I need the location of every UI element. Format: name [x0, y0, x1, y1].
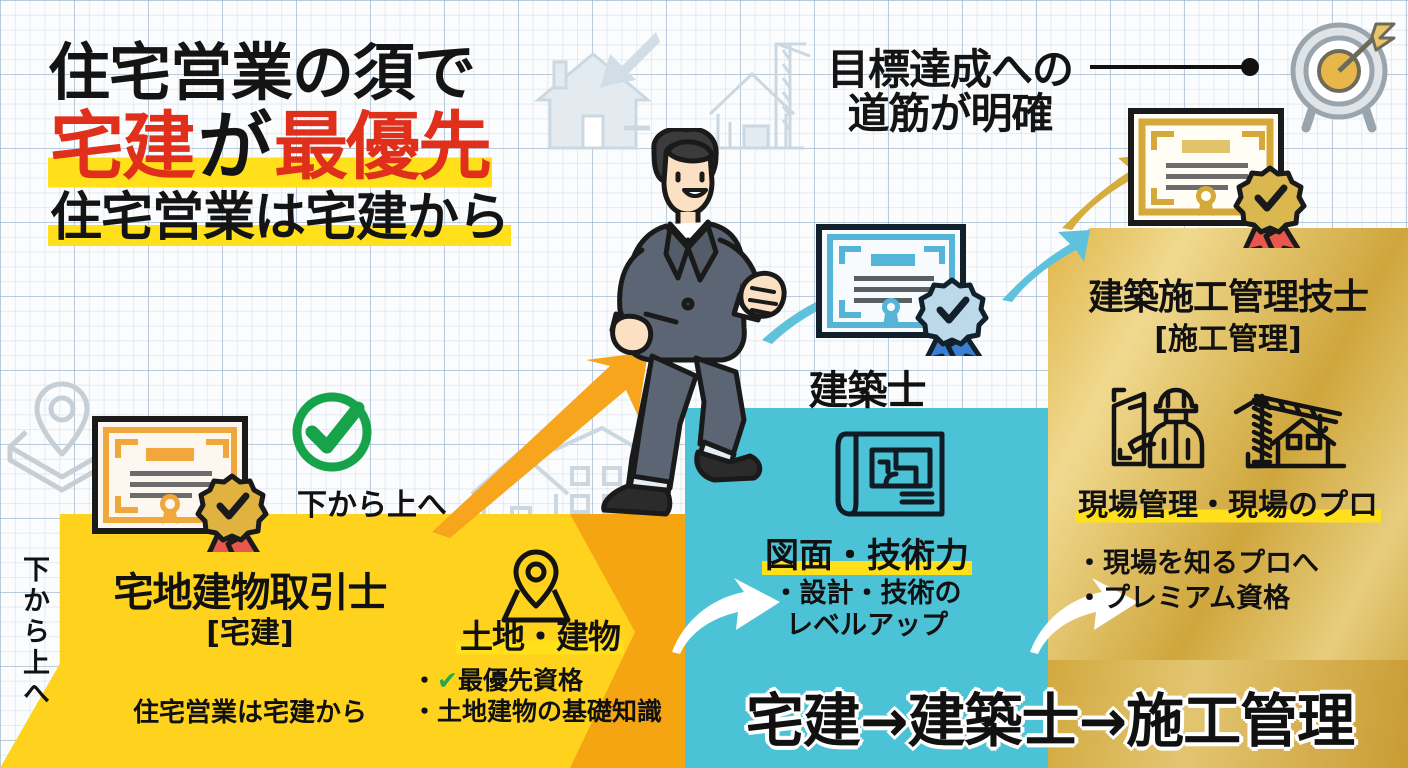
engineer-crane-icon [1108, 378, 1348, 476]
list-item: ・✔最優先資格 [412, 666, 684, 697]
certificate-blue-icon [816, 224, 996, 356]
bottom-banner-text: 宅建→建築士→施工管理 [700, 668, 1400, 764]
list-item: ・現場を知るプロへ [1076, 546, 1396, 581]
certificate-gold-icon [1128, 108, 1314, 248]
list-item: ・土地建物の基礎知識 [412, 697, 684, 728]
step-takken-footer: 住宅営業は宅建から [62, 692, 438, 729]
caption-bottom-to-top-vertical: 下から上へ [14, 555, 53, 710]
step-sekou-bullets: ・現場を知るプロへ ・プレミアム資格 [1076, 546, 1396, 616]
step-tochi-bullets: ・✔最優先資格 ・土地建物の基礎知識 [412, 666, 684, 727]
blueprint-icon [832, 428, 952, 520]
headline-line1: 住宅営業の須で [48, 42, 628, 104]
leader-line-to-target [1090, 56, 1270, 78]
infographic-canvas: 住宅営業の須で 宅建が最優先 住宅営業は宅建から 目標達成への 道筋が明確 下か… [0, 0, 1408, 768]
check-circle-green-icon [288, 388, 376, 476]
step-sekou-caption: 現場管理・現場のプロ [1058, 480, 1398, 524]
step-sekou-subtitle: [施工管理] [1052, 314, 1404, 358]
step-kenchikushi-bullets: ・設計・技術の レベルアップ [722, 578, 1012, 643]
headline-line2: 宅建が最優先 [48, 110, 628, 184]
certificate-orange-icon [92, 416, 272, 552]
headline-right-line2: 道筋が明確 [800, 92, 1100, 136]
headline-block: 住宅営業の須で 宅建が最優先 住宅営業は宅建から [48, 42, 628, 244]
list-item: ・設計・技術の [722, 578, 1012, 610]
headline-ga: が [196, 104, 272, 190]
list-item: レベルアップ [722, 610, 1012, 642]
step-takken-subtitle: [宅建] [70, 608, 430, 652]
step-kenchikushi-title: 建築士 [762, 358, 972, 416]
headline-saiyusen: 最優先 [272, 104, 492, 190]
headline-line3: 住宅営業は宅建から [48, 192, 628, 244]
caption-bottom-to-top: 下から上へ [297, 480, 447, 524]
step-kenchikushi-subtitle: 図面・技術力 [742, 528, 992, 577]
check-icon: ✔ [437, 666, 458, 695]
list-item: ・プレミアム資格 [1076, 581, 1396, 616]
step-tochi-title: 土地・建物 [420, 610, 660, 658]
headline-right-block: 目標達成への 道筋が明確 [800, 48, 1100, 135]
step-sekou-title: 建築施工管理技士 [1052, 268, 1404, 320]
headline-right-line1: 目標達成への [800, 48, 1100, 92]
headline-takken: 宅建 [48, 104, 196, 190]
